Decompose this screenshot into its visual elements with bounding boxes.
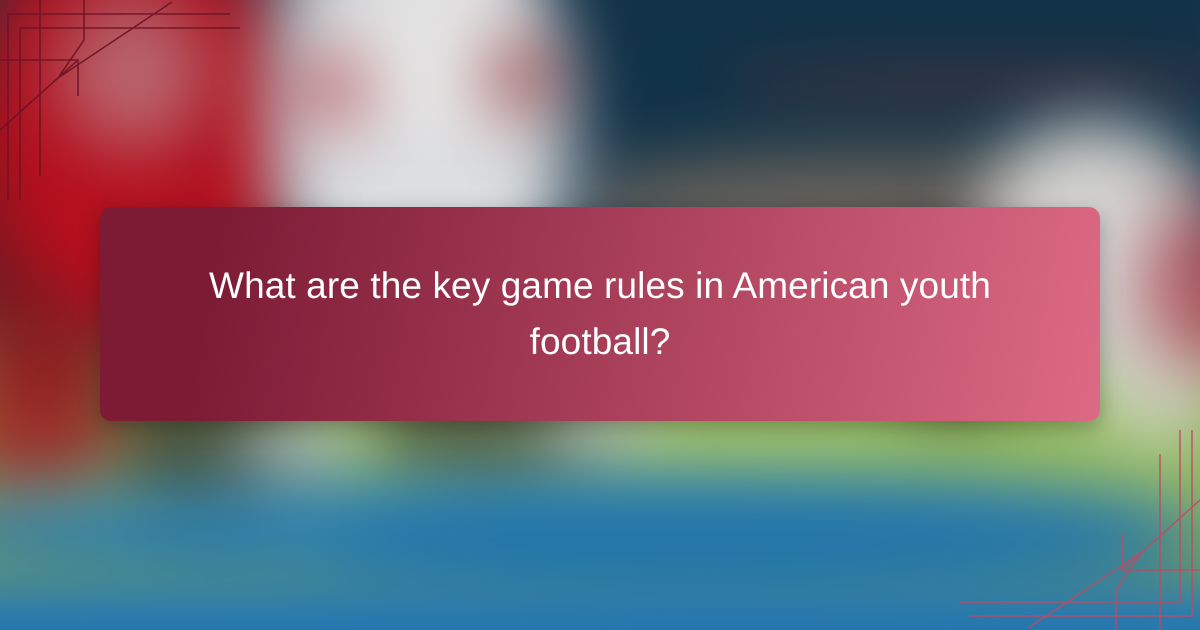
corner-decoration-bottom-right [940,430,1200,630]
title-card: What are the key game rules in American … [100,207,1100,421]
social-card-canvas: What are the key game rules in American … [0,0,1200,630]
page-title: What are the key game rules in American … [170,258,1030,370]
corner-decoration-top-left [0,0,260,200]
